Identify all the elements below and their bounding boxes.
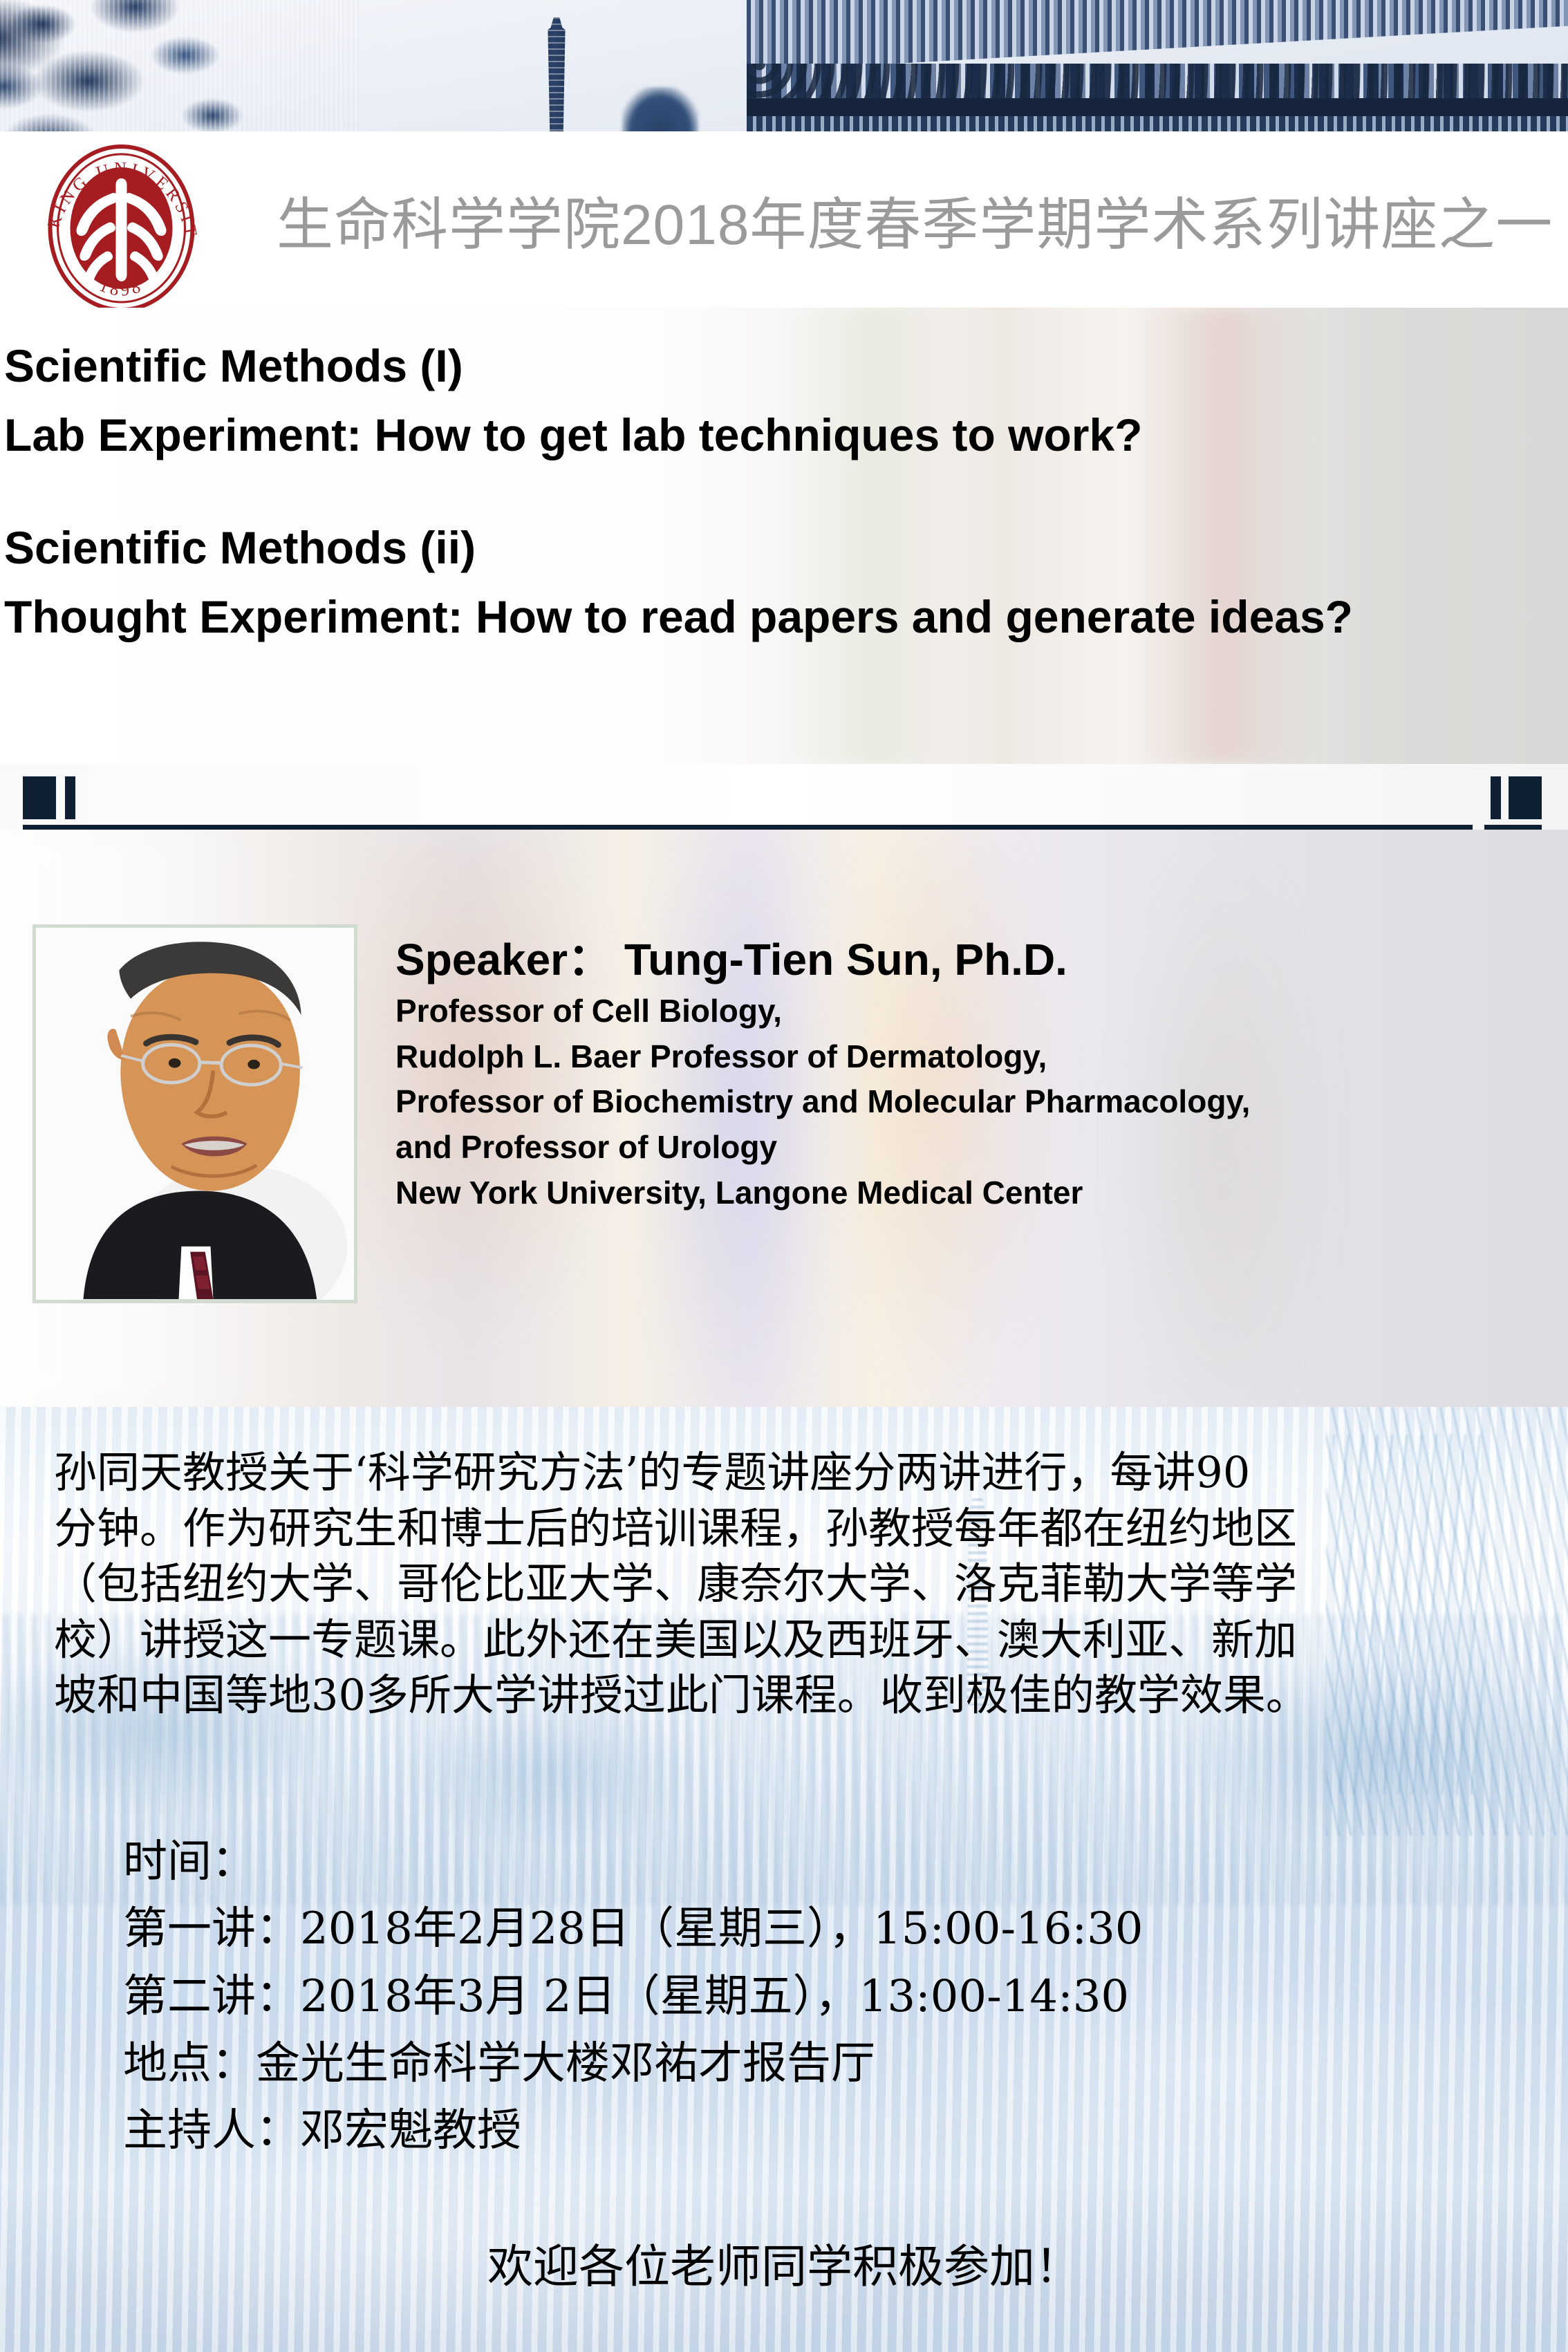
speaker-affiliation-5: New York University, Langone Medical Cen…: [395, 1170, 1557, 1216]
peking-university-seal-logo: PEKING UNIVERSITY 1898: [23, 144, 220, 310]
lecture-title-lines: Scientific Methods (I) Lab Experiment: H…: [4, 331, 1568, 651]
description-line-5: 坡和中国等地30多所大学讲授过此门课程。收到极佳的教学效果。: [54, 1668, 1520, 1724]
schedule-session-2: 第二讲：2018年3月 2日（星期五），13:00-14:30: [123, 1963, 1506, 2031]
schedule-block: 时间： 第一讲：2018年2月28日（星期三），15:00-16:30 第二讲：…: [123, 1829, 1506, 2165]
divider-left-block-small: [65, 776, 75, 819]
roof-rafters: [747, 116, 1568, 131]
banner-tree-texture: [0, 0, 360, 131]
schedule-host: 主持人：邓宏魁教授: [123, 2098, 1506, 2165]
schedule-session-1: 第一讲：2018年2月28日（星期三），15:00-16:30: [123, 1896, 1506, 1963]
lecture-title-2: Scientific Methods (ii): [4, 513, 1568, 582]
speaker-name-line: Speaker： Tung-Tien Sun, Ph.D.: [395, 932, 1557, 989]
divider-backdrop: [0, 764, 1568, 830]
description-line-3: （包括纽约大学、哥伦比亚大学、康奈尔大学、洛克菲勒大学等学: [54, 1556, 1520, 1612]
schedule-time-label: 时间：: [123, 1829, 1506, 1896]
divider-right-block-large: [1509, 776, 1542, 819]
schedule-location: 地点：金光生命科学大楼邓祐才报告厅: [123, 2031, 1506, 2098]
speaker-affiliation-1: Professor of Cell Biology,: [395, 989, 1557, 1034]
divider-left-block-large: [23, 776, 56, 819]
lecture-poster: PEKING UNIVERSITY 1898 生命科学学院2018年度春季学期学…: [0, 0, 1568, 2352]
poster-header: PEKING UNIVERSITY 1898 生命科学学院2018年度春季学期学…: [0, 131, 1568, 308]
decorative-divider: [0, 764, 1568, 830]
traditional-roof-photo: [747, 0, 1568, 131]
lecture-subtitle-1: Lab Experiment: How to get lab technique…: [4, 400, 1568, 469]
divider-right-block-small: [1491, 776, 1501, 819]
description-line-2: 分钟。作为研究生和博士后的培训课程，孙教授每年都在纽约地区: [54, 1501, 1520, 1557]
header-series-title: 生命科学学院2018年度春季学期学术系列讲座之一: [277, 131, 1553, 308]
speaker-affiliation-2: Rudolph L. Baer Professor of Dermatology…: [395, 1034, 1557, 1080]
lecture-title-1: Scientific Methods (I): [4, 331, 1568, 400]
description-line-1: 孙同天教授关于‘科学研究方法’的专题讲座分两讲进行，每讲90: [54, 1445, 1520, 1501]
top-banner-photo: [0, 0, 1568, 131]
banner-shrub: [622, 87, 698, 131]
speaker-details: Speaker： Tung-Tien Sun, Ph.D. Professor …: [395, 932, 1557, 1216]
lecture-title-block: Scientific Methods (I) Lab Experiment: H…: [0, 308, 1568, 764]
speaker-affiliation-3: Professor of Biochemistry and Molecular …: [395, 1079, 1557, 1125]
speaker-affiliation-4: and Professor of Urology: [395, 1125, 1557, 1170]
description-line-4: 校）讲授这一专题课。此外还在美国以及西班牙、澳大利亚、新加: [54, 1612, 1520, 1668]
description-paragraph: 孙同天教授关于‘科学研究方法’的专题讲座分两讲进行，每讲90 分钟。作为研究生和…: [54, 1445, 1520, 1724]
lecture-subtitle-2: Thought Experiment: How to read papers a…: [4, 582, 1568, 651]
title-spacer: [4, 470, 1568, 513]
speaker-portrait-photo: [32, 924, 357, 1303]
roof-ridge-beams: [747, 0, 1568, 72]
welcome-message: 欢迎各位老师同学积极参加！: [0, 2230, 1568, 2296]
